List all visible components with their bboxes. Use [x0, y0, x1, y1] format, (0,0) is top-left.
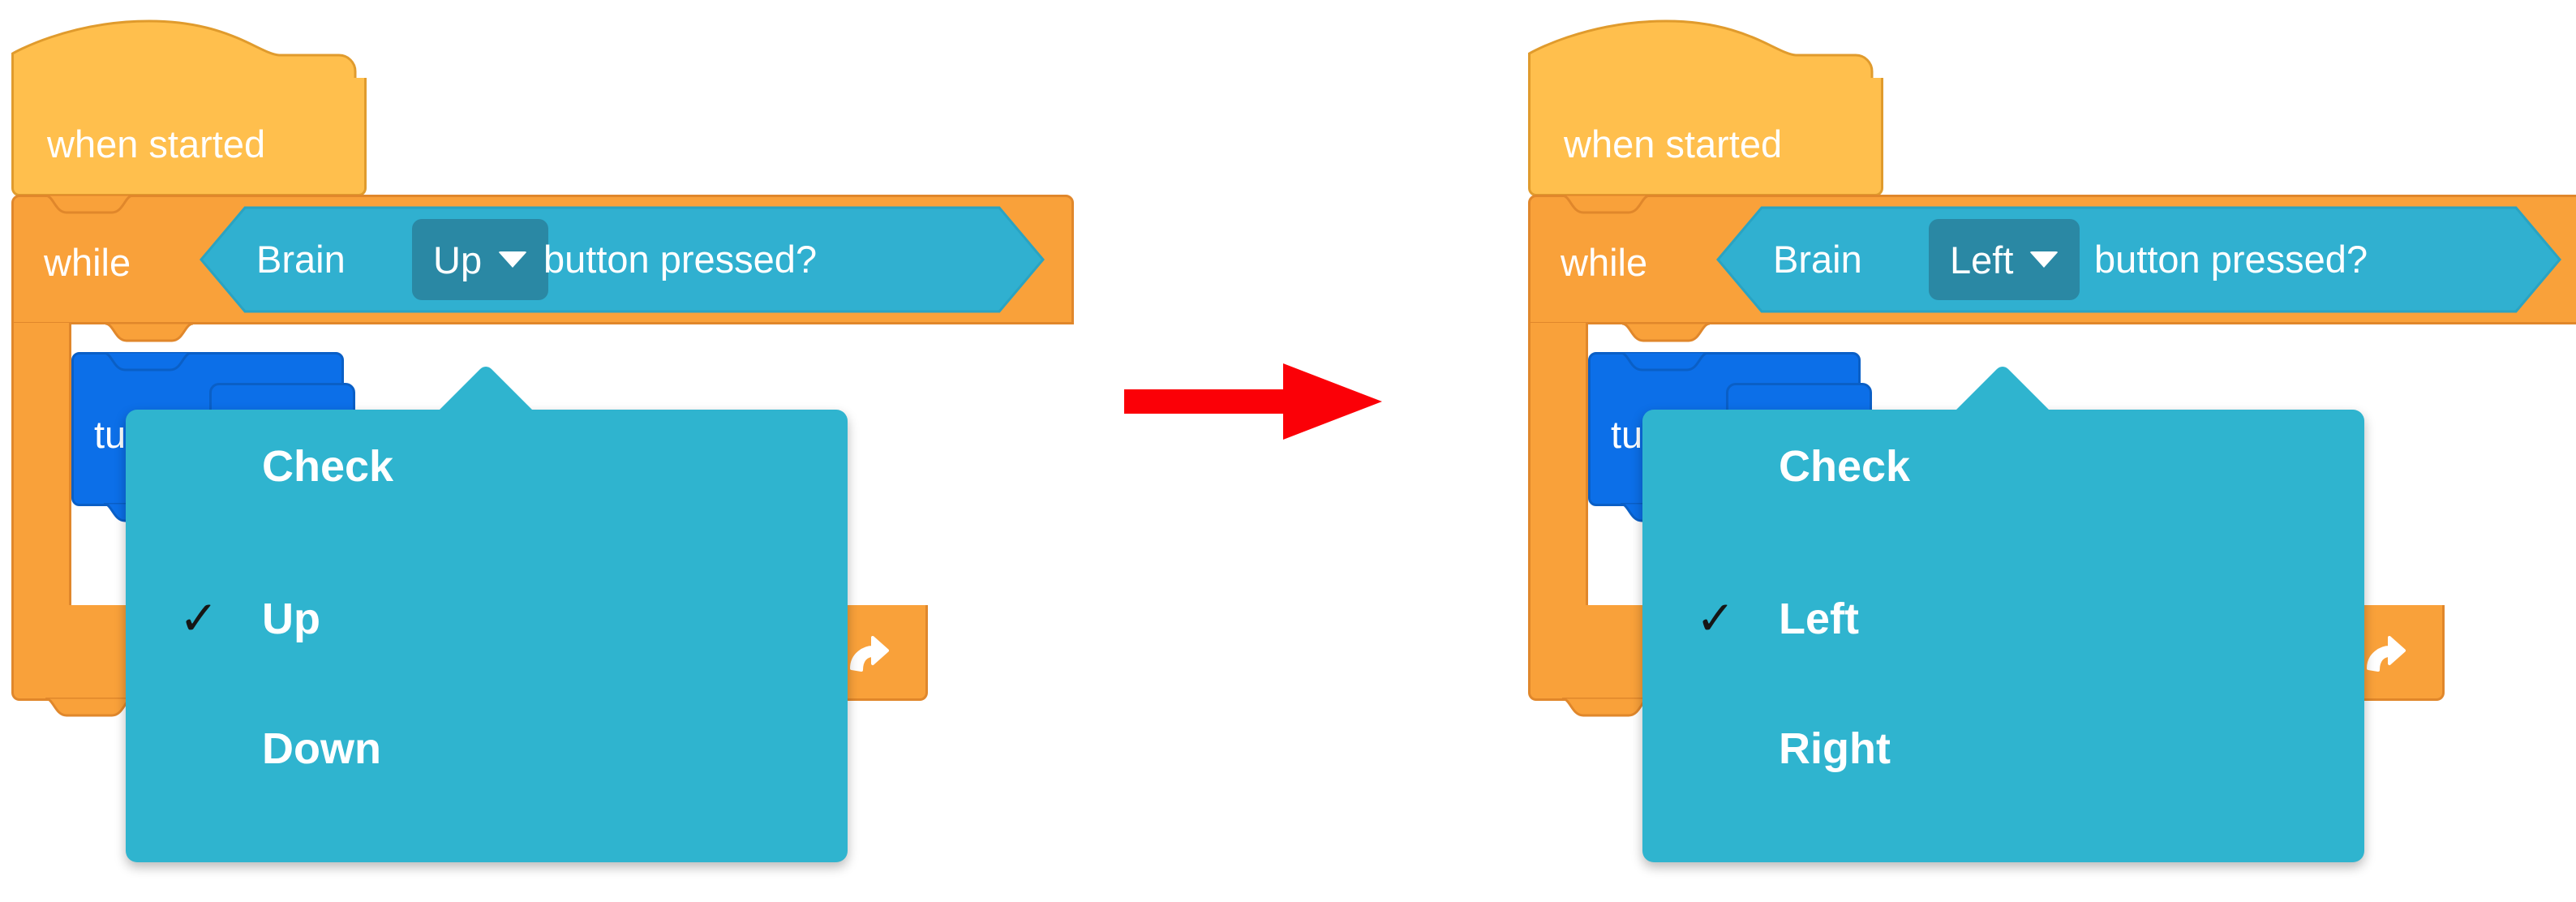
control-block-inner-notch	[1622, 323, 1710, 342]
sensing-boolean-brain-button-pressed[interactable]: Brain Left button pressed?	[1716, 206, 2561, 313]
hat-block-when-started[interactable]: when started	[1528, 18, 1883, 196]
loop-arrow-icon	[2357, 628, 2407, 678]
program-panel-after: when started while	[1517, 0, 2576, 902]
right-arrow-icon	[1124, 357, 1384, 446]
hat-block-when-started[interactable]: when started	[11, 18, 367, 196]
condition-prefix-label: Brain	[256, 237, 346, 281]
checkmark-icon: ✓	[1691, 595, 1740, 642]
condition-dropdown-button[interactable]: Up	[412, 219, 548, 300]
condition-dropdown-value: Left	[1950, 238, 2013, 282]
dropdown-item-0[interactable]: ✓ Left	[1642, 562, 2364, 676]
chevron-down-icon	[2029, 251, 2059, 268]
dropdown-caret-pointer	[1955, 364, 2050, 411]
condition-suffix-label: button pressed?	[2094, 237, 2368, 281]
program-panel-before: when started while	[0, 0, 1136, 902]
control-block-left-column	[1528, 323, 1588, 607]
control-block-bottom-nub	[45, 698, 133, 719]
dropdown-item-2[interactable]: ✓ Check	[126, 410, 848, 523]
checkmark-icon: ✓	[174, 595, 223, 642]
control-block-label: while	[1561, 240, 1647, 285]
control-block-top-notch	[45, 195, 133, 214]
control-block-inner-notch	[105, 323, 193, 342]
dropdown-item-1[interactable]: ✓ Down	[126, 692, 848, 805]
hat-block-label: when started	[47, 122, 265, 166]
dropdown-item-0[interactable]: ✓ Up	[126, 562, 848, 676]
sensing-boolean-brain-button-pressed[interactable]: Brain Up button pressed?	[200, 206, 1045, 313]
dropdown-item-label: Down	[262, 724, 381, 774]
dropdown-item-2[interactable]: ✓ Check	[1642, 410, 2364, 523]
control-block-label: while	[44, 240, 131, 285]
condition-dropdown-button[interactable]: Left	[1929, 219, 2080, 300]
dropdown-item-label: Check	[262, 441, 393, 492]
dropdown-item-label: Left	[1779, 594, 1859, 644]
chevron-down-icon	[498, 251, 527, 268]
dropdown-menu-popup[interactable]: ✓ Left ✓ Right ✓ Check	[1642, 410, 2364, 862]
motion-block-top-notch	[1621, 352, 1708, 372]
motion-block-top-notch	[104, 352, 191, 372]
control-block-left-column	[11, 323, 71, 607]
hat-block-label: when started	[1564, 122, 1782, 166]
dropdown-item-label: Right	[1779, 724, 1891, 774]
condition-suffix-label: button pressed?	[543, 237, 817, 281]
loop-arrow-icon	[840, 628, 891, 678]
control-block-bottom-nub	[1562, 698, 1650, 719]
condition-dropdown-value: Up	[433, 238, 482, 282]
dropdown-item-label: Check	[1779, 441, 1910, 492]
dropdown-item-label: Up	[262, 594, 320, 644]
control-block-top-notch	[1562, 195, 1650, 214]
condition-prefix-label: Brain	[1773, 237, 1862, 281]
dropdown-item-1[interactable]: ✓ Right	[1642, 692, 2364, 805]
dropdown-caret-pointer	[438, 364, 534, 411]
dropdown-menu-popup[interactable]: ✓ Up ✓ Down ✓ Check	[126, 410, 848, 862]
